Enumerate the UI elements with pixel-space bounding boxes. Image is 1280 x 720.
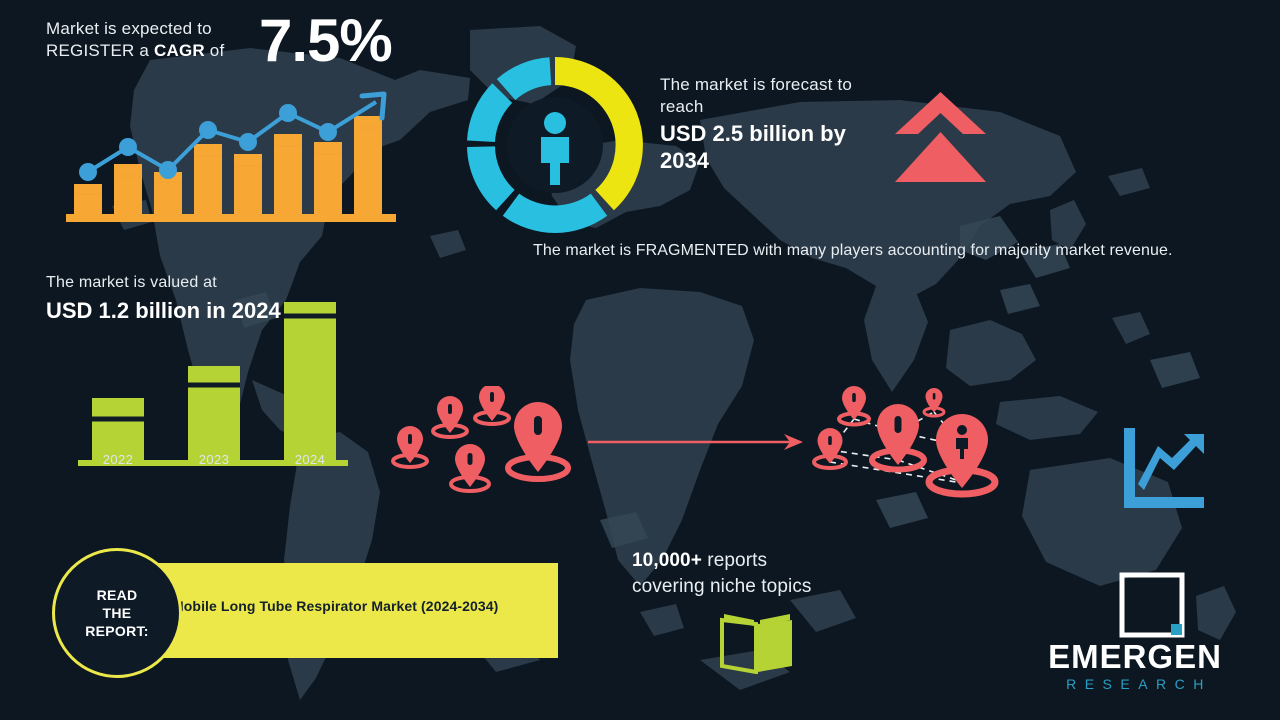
open-book-icon <box>718 612 796 674</box>
square-outline-icon <box>1119 572 1185 638</box>
scattered-map-pins-icon <box>382 386 582 496</box>
reports-count-text: 10,000+ reports covering niche topics <box>632 548 932 600</box>
cagr-lead-line2-post: of <box>205 41 225 60</box>
forecast-value: USD 2.5 billion by 2034 <box>660 120 900 174</box>
read-the-report-button[interactable]: READ THE REPORT: <box>52 548 182 678</box>
reports-count-line2: covering niche topics <box>632 576 812 597</box>
emergen-research-logo: EMERGEN RESEARCH <box>1020 572 1250 700</box>
x-label-2024: 2024 <box>295 452 326 467</box>
cta-line3: REPORT: <box>85 623 149 639</box>
logo-sub-text: RESEARCH <box>1020 676 1250 692</box>
cta-line1: READ <box>97 587 138 603</box>
cagr-lead-text: Market is expected to REGISTER a CAGR of <box>46 18 251 62</box>
double-chevron-up-icon <box>893 88 988 186</box>
cagr-block: Market is expected to REGISTER a CAGR of… <box>46 18 466 68</box>
cta-line2: THE <box>103 605 132 621</box>
infographic-canvas: Market is expected to REGISTER a CAGR of… <box>0 0 1280 720</box>
x-label-2022: 2022 <box>103 452 134 467</box>
reports-count-suffix: reports <box>702 550 767 571</box>
logo-brand-text: EMERGEN <box>1020 640 1250 674</box>
forecast-lead-text: The market is forecast to reach <box>660 74 900 118</box>
connected-map-pins-network-icon <box>806 384 1018 502</box>
forecast-block: The market is forecast to reach USD 2.5 … <box>660 74 900 174</box>
read-the-report-label: READ THE REPORT: <box>85 586 149 640</box>
reports-count-number: 10,000+ <box>632 550 702 571</box>
right-arrow-icon <box>588 430 803 454</box>
cagr-lead-line2-pre: REGISTER a <box>46 41 154 60</box>
cagr-value: 7.5% <box>259 14 392 68</box>
cagr-lead-line1: Market is expected to <box>46 19 212 38</box>
donut-chart-person-icon <box>462 52 648 238</box>
market-value-bar-chart <box>78 290 348 470</box>
report-title[interactable]: Mobile Long Tube Respirator Market (2024… <box>172 598 552 614</box>
line-chart-up-icon <box>1120 424 1208 512</box>
cagr-keyword: CAGR <box>154 41 205 60</box>
x-label-2023: 2023 <box>199 452 230 467</box>
bar-chart-x-axis-labels: 2022 2023 2024 <box>78 452 348 474</box>
reports-count-block: 10,000+ reports covering niche topics <box>632 548 932 600</box>
bar-line-growth-chart-icon <box>62 80 412 228</box>
fragmented-statement: The market is FRAGMENTED with many playe… <box>533 238 1223 263</box>
